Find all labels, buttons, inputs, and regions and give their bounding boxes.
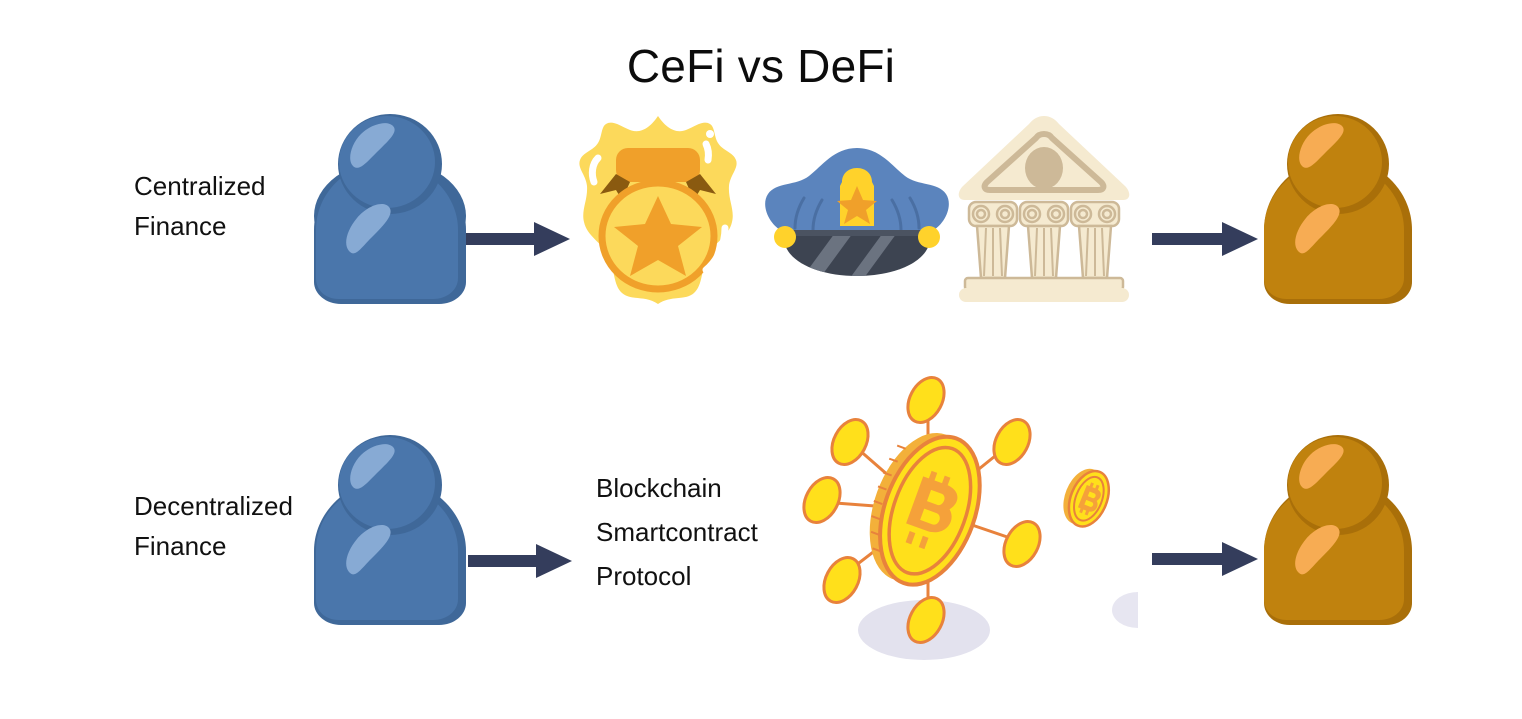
diagram-canvas: CeFi vs DeFi Centralized Finance — [0, 0, 1522, 719]
person-blue-icon — [313, 112, 468, 308]
person-gold-icon — [1262, 433, 1414, 629]
arrow-right-icon — [466, 218, 572, 260]
arrow-right-icon — [1152, 218, 1260, 260]
bitcoin-main-coin — [850, 419, 999, 599]
bitcoin-coin-icon — [1058, 462, 1116, 534]
page-title: CeFi vs DeFi — [0, 40, 1522, 93]
police-cap-icon — [762, 142, 952, 278]
arrow-right-icon — [468, 540, 574, 582]
blockchain-protocol-label: Blockchain Smartcontract Protocol — [596, 466, 826, 598]
bank-building-icon — [955, 112, 1133, 306]
person-blue-icon — [313, 433, 468, 629]
person-gold-icon — [1262, 112, 1414, 308]
police-badge-icon — [572, 112, 744, 308]
arrow-right-icon — [1152, 538, 1260, 580]
